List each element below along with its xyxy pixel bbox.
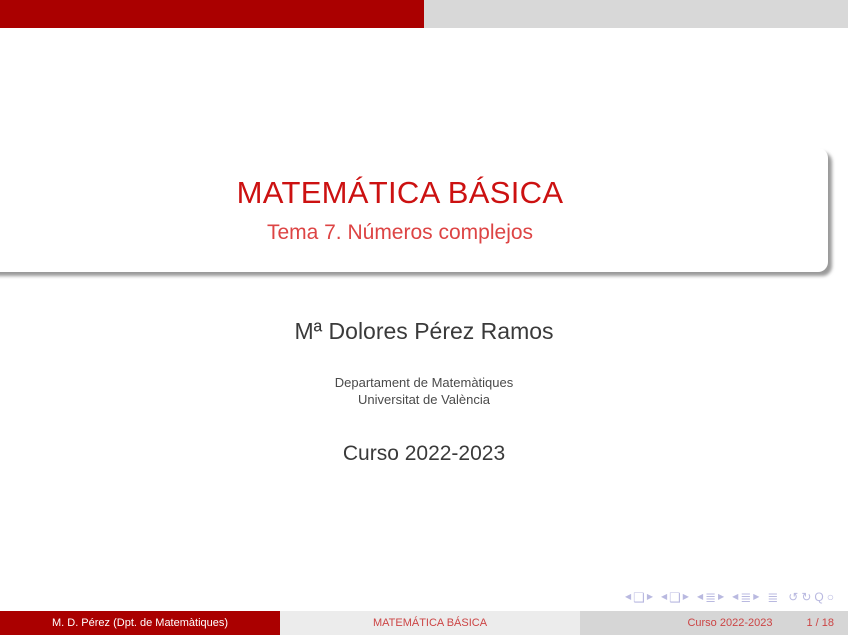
frame-icon[interactable]: ❑ xyxy=(669,591,681,604)
forward-icon[interactable]: ↻ xyxy=(801,591,811,603)
nav-group-slide[interactable]: ◀ ❑ ▶ xyxy=(625,591,653,604)
header-bar-accent xyxy=(0,0,424,28)
document-icon[interactable]: ≣ xyxy=(767,591,778,604)
page-subtitle: Tema 7. Números complejos xyxy=(267,220,533,245)
previous-frame-icon[interactable]: ◀ xyxy=(661,593,667,601)
header-bar-gray xyxy=(424,0,848,28)
nav-group-history[interactable]: ↺ ↻ Q ○ xyxy=(788,591,834,603)
nav-group-section[interactable]: ◀ ≣ ▶ xyxy=(732,591,759,604)
footer-page-number: 1 / 18 xyxy=(806,617,834,629)
presentation-slide: MATEMÁTICA BÁSICA Tema 7. Números comple… xyxy=(0,0,848,635)
next-frame-icon[interactable]: ▶ xyxy=(683,593,689,601)
title-block-container: MATEMÁTICA BÁSICA Tema 7. Números comple… xyxy=(0,148,832,276)
back-icon[interactable]: ↺ xyxy=(788,591,798,603)
footer-right: Curso 2022-2023 1 / 18 xyxy=(580,611,848,635)
previous-subsection-icon[interactable]: ◀ xyxy=(697,593,703,601)
end-icon[interactable]: ○ xyxy=(827,591,834,603)
next-subsection-icon[interactable]: ▶ xyxy=(718,593,724,601)
institute-block: Departament de Matemàtiques Universitat … xyxy=(0,374,848,409)
slide-icon[interactable]: ❑ xyxy=(633,591,645,604)
footer-author: M. D. Pérez (Dpt. de Matemàtiques) xyxy=(0,611,280,635)
institute-university: Universitat de València xyxy=(0,391,848,409)
header-bar xyxy=(0,0,848,28)
section-icon[interactable]: ≣ xyxy=(740,591,751,604)
title-block: MATEMÁTICA BÁSICA Tema 7. Números comple… xyxy=(0,148,828,272)
footer-bar: M. D. Pérez (Dpt. de Matemàtiques) MATEM… xyxy=(0,611,848,635)
next-slide-icon[interactable]: ▶ xyxy=(647,593,653,601)
next-section-icon[interactable]: ▶ xyxy=(753,593,759,601)
previous-slide-icon[interactable]: ◀ xyxy=(625,593,631,601)
subsection-icon[interactable]: ≣ xyxy=(705,591,716,604)
page-title: MATEMÁTICA BÁSICA xyxy=(237,175,564,211)
footer-title: MATEMÁTICA BÁSICA xyxy=(280,611,580,635)
previous-section-icon[interactable]: ◀ xyxy=(732,593,738,601)
navigation-symbols[interactable]: ◀ ❑ ▶ ◀ ❑ ▶ ◀ ≣ ▶ ◀ ≣ ▶ ≣ ↺ ↻ Q ○ xyxy=(625,588,834,606)
author-name: Mª Dolores Pérez Ramos xyxy=(0,318,848,346)
nav-group-subsection[interactable]: ◀ ≣ ▶ xyxy=(697,591,724,604)
author-block: Mª Dolores Pérez Ramos Departament de Ma… xyxy=(0,318,848,466)
nav-group-frame[interactable]: ◀ ❑ ▶ xyxy=(661,591,689,604)
institute-department: Departament de Matemàtiques xyxy=(0,374,848,392)
course-date: Curso 2022-2023 xyxy=(0,441,848,466)
footer-date: Curso 2022-2023 xyxy=(687,617,772,629)
search-icon[interactable]: Q xyxy=(814,591,823,603)
